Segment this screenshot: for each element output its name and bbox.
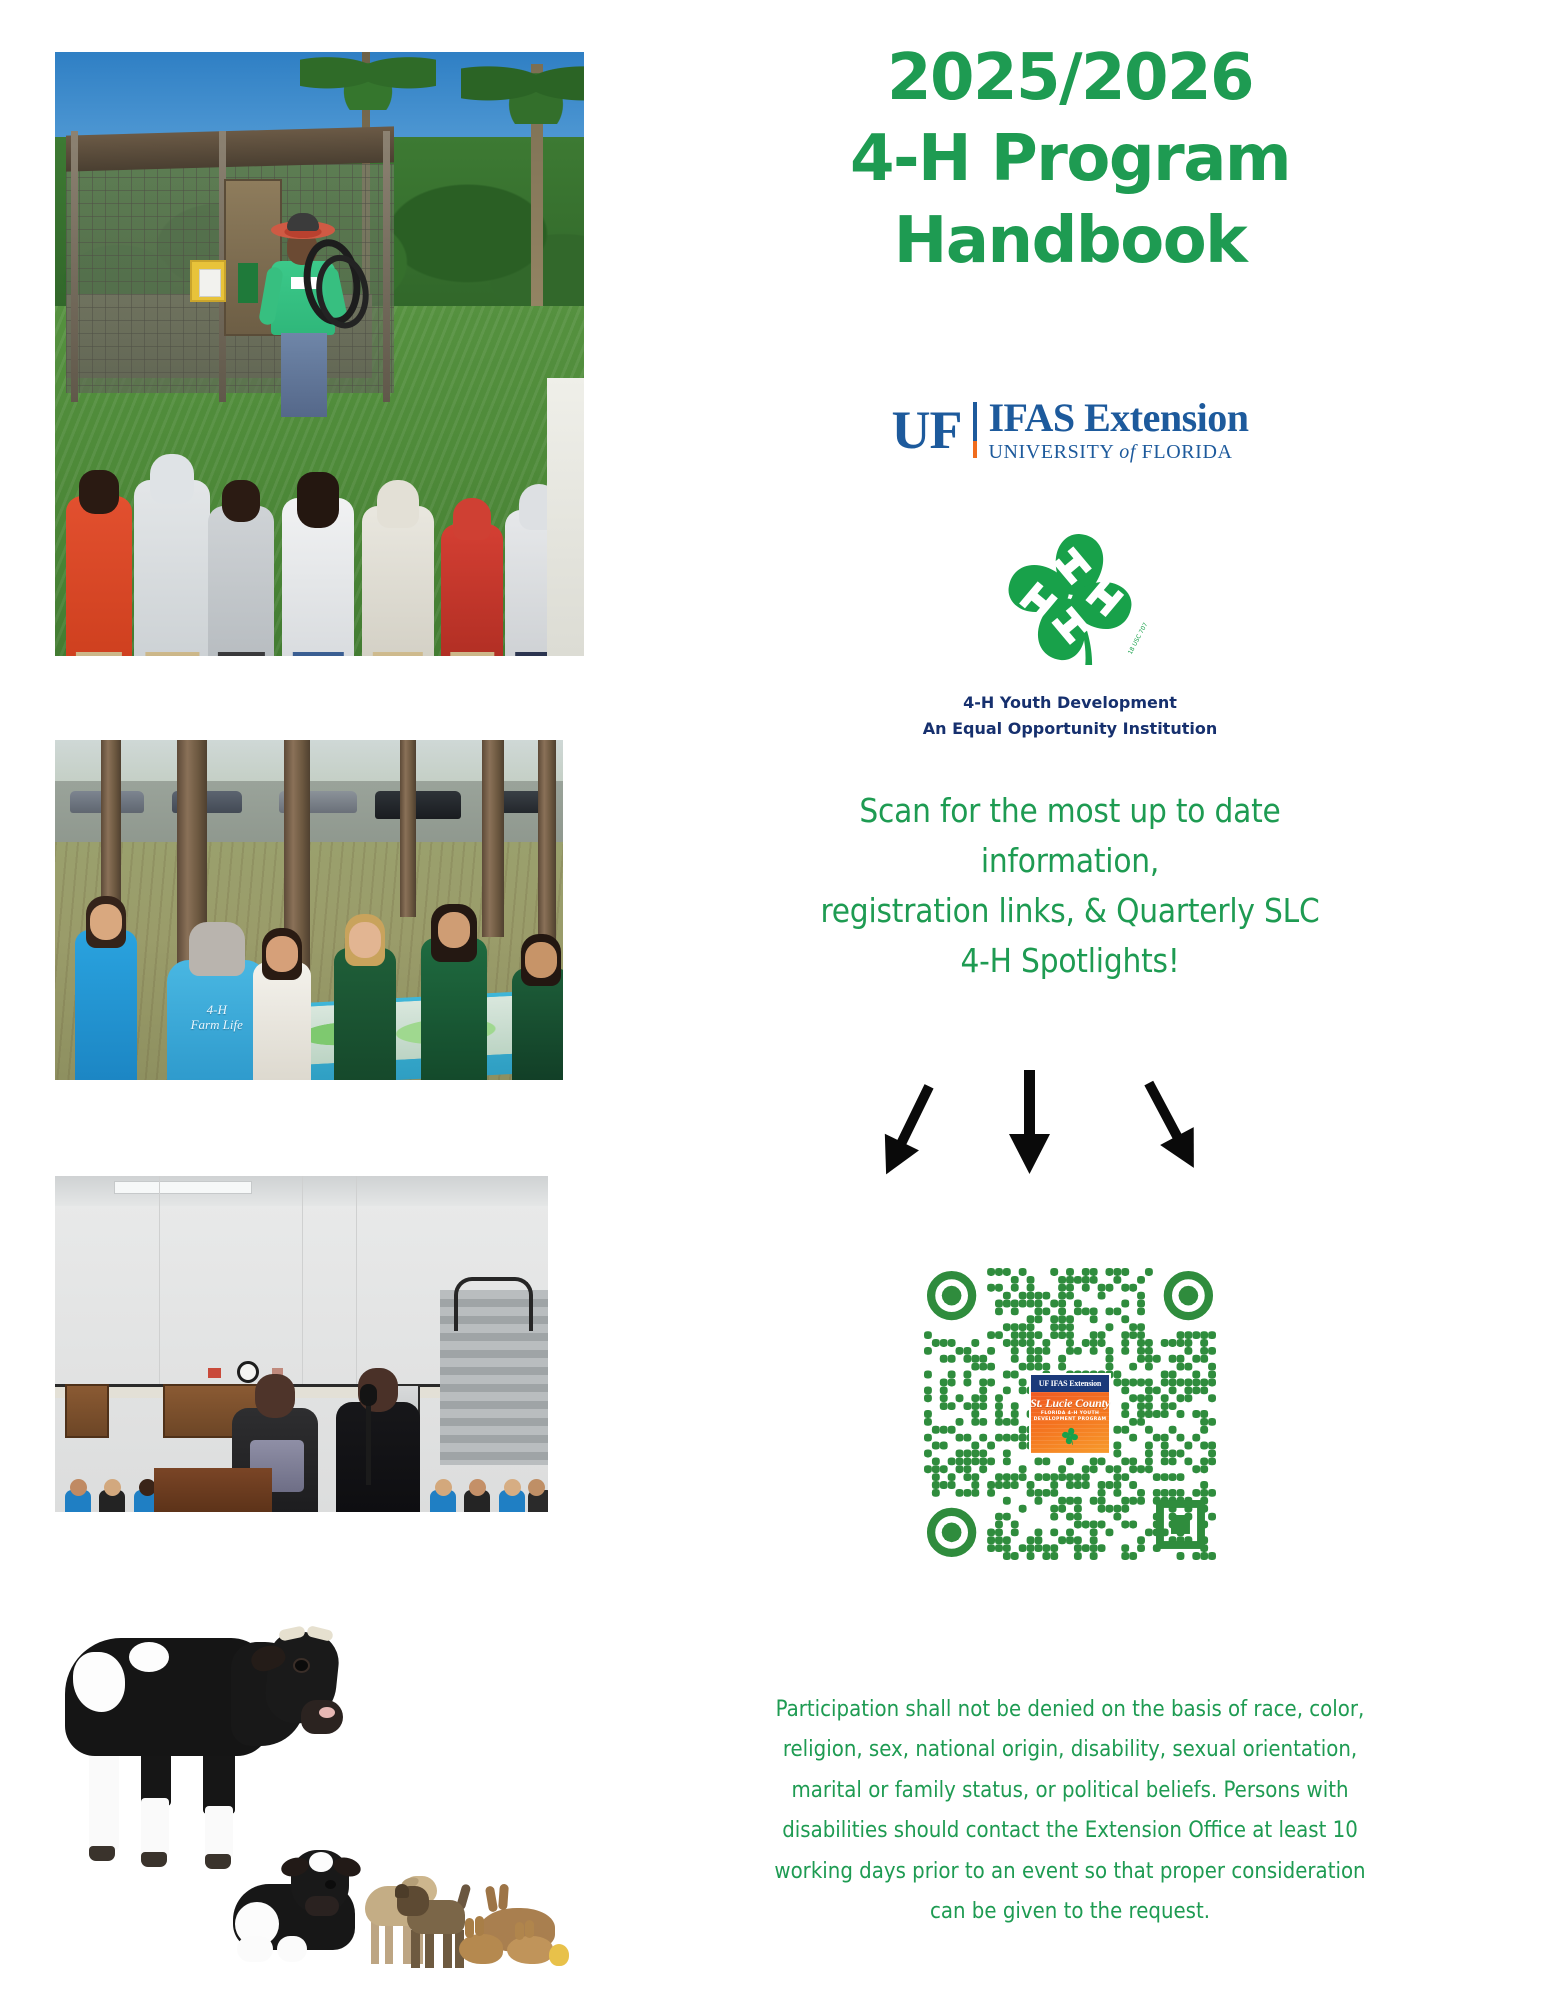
disclaimer-line-3: marital or family status, or political b…: [640, 1771, 1500, 1811]
arrow-down-icon: [1009, 1070, 1050, 1174]
qr-code-block: UF IFAS Extension St. Lucie County FLORI…: [640, 1268, 1500, 1565]
photo-coop-education: [55, 52, 584, 656]
uf-wordmark: UF: [891, 403, 961, 457]
qr-logo-uf-band: UF IFAS Extension: [1031, 1375, 1109, 1392]
photo-farm-animals-scene: [55, 1608, 575, 2000]
scan-line-2: information,: [640, 836, 1500, 886]
down-arrows-group: [640, 1070, 1500, 1190]
qr-center-logo: UF IFAS Extension St. Lucie County FLORI…: [1029, 1373, 1111, 1455]
university-of-florida-text: UNIVERSITY of FLORIDA: [988, 441, 1248, 463]
ifas-extension-text: IFAS Extension: [988, 398, 1248, 439]
farm-life-shirt: 4-H Farm Life: [167, 960, 267, 1080]
scan-line-3: registration links, & Quarterly SLC: [640, 886, 1500, 936]
arrow-down-left-icon: [869, 1078, 946, 1183]
photo-podium-scene: [55, 1176, 548, 1512]
clover-icon: 18 USC 707: [985, 512, 1155, 682]
disclaimer-line-4: disabilities should contact the Extensio…: [640, 1811, 1500, 1851]
program-identity-lines: 4-H Youth Development An Equal Opportuni…: [640, 690, 1500, 742]
scan-line-4: 4-H Spotlights!: [640, 936, 1500, 986]
qr-logo-body: St. Lucie County FLORIDA 4-H YOUTH DEVEL…: [1031, 1392, 1109, 1453]
disclaimer-line-6: can be given to the request.: [640, 1892, 1500, 1932]
qr-logo-county: St. Lucie County: [1030, 1397, 1110, 1409]
photo-podium-presentation: [55, 1176, 548, 1512]
photo-farm-animals: [55, 1608, 575, 2000]
equal-opportunity-line: An Equal Opportunity Institution: [640, 716, 1500, 742]
disclaimer-line-1: Participation shall not be denied on the…: [640, 1690, 1500, 1730]
page-title: 2025/2026 4-H Program Handbook: [640, 38, 1500, 282]
scan-line-1: Scan for the most up to date: [640, 786, 1500, 836]
photo-watershed-scene: 4-H Farm Life: [55, 740, 563, 1080]
title-line-year: 2025/2026: [640, 38, 1500, 119]
qr-logo-subtitle: FLORIDA 4-H YOUTH DEVELOPMENT PROGRAM: [1034, 1411, 1107, 1423]
right-content-column: 2025/2026 4-H Program Handbook UF IFAS E…: [640, 0, 1545, 2000]
four-h-clover-logo: 18 USC 707: [640, 512, 1500, 687]
photo-watershed-model: 4-H Farm Life: [55, 740, 563, 1080]
uf-logo-divider: [973, 402, 977, 458]
calf-figure: [233, 1840, 365, 1964]
qr-logo-clover-icon: [1059, 1425, 1081, 1447]
qr-code[interactable]: UF IFAS Extension St. Lucie County FLORI…: [924, 1268, 1216, 1560]
chick-figure: [549, 1944, 569, 1966]
microphone-icon: [366, 1398, 371, 1485]
arrow-down-right-icon: [1132, 1074, 1211, 1177]
uf-ifas-extension-logo: UF IFAS Extension UNIVERSITY of FLORIDA: [640, 398, 1500, 463]
clover-stem-text: 18 USC 707: [1127, 621, 1150, 655]
title-line-handbook: Handbook: [640, 201, 1500, 282]
handbook-cover-page: 4-H Farm Life: [0, 0, 1545, 2000]
title-line-program: 4-H Program: [640, 119, 1500, 200]
podium: [154, 1468, 272, 1512]
qr-logo-uf-text: UF IFAS Extension: [1039, 1379, 1101, 1388]
disclaimer-line-2: religion, sex, national origin, disabili…: [640, 1730, 1500, 1770]
scan-callout: Scan for the most up to date information…: [640, 786, 1500, 987]
photo-coop-scene: [55, 52, 584, 656]
youth-development-line: 4-H Youth Development: [640, 690, 1500, 716]
farm-life-shirt-text: 4-H Farm Life: [191, 1003, 243, 1033]
nondiscrimination-disclaimer: Participation shall not be denied on the…: [640, 1690, 1500, 1933]
disclaimer-line-5: working days prior to an event so that p…: [640, 1852, 1500, 1892]
